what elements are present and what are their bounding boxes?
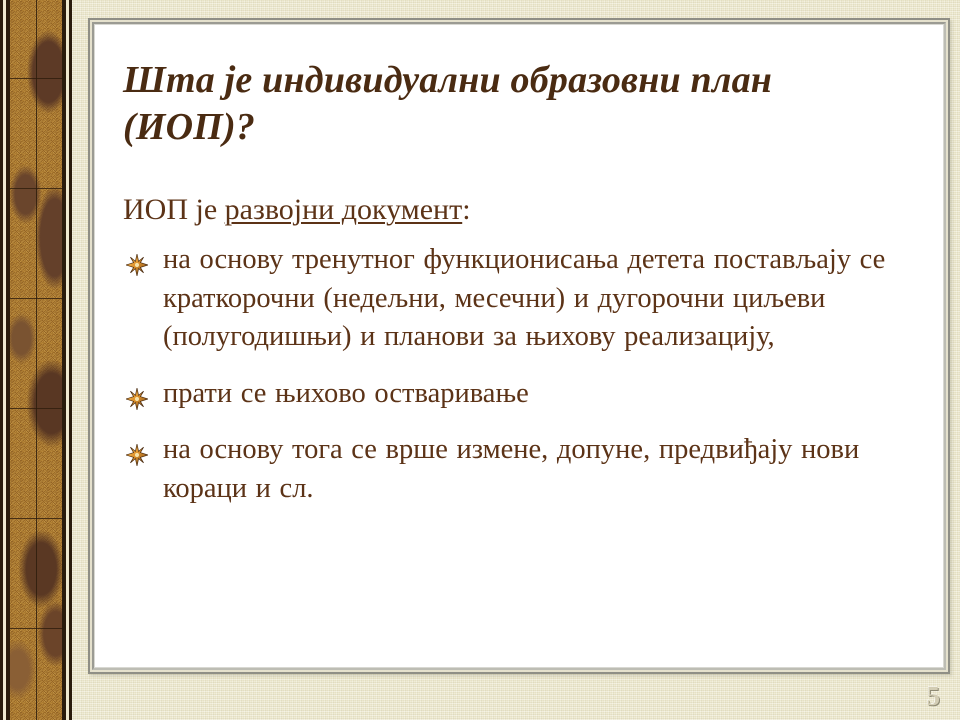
list-item-text: на основу тренутног функционисања детета… — [163, 244, 885, 352]
strip-grid-line-horizontal — [10, 408, 62, 409]
strip-edge-line-left-inner — [6, 0, 10, 720]
star-burst-bullet-icon — [126, 249, 148, 271]
content-frame-inner: Шта је индивидуални образовни план (ИОП)… — [94, 24, 944, 668]
strip-grid-line-horizontal — [10, 188, 62, 189]
star-burst-bullet-icon — [126, 383, 148, 405]
strip-grid-line-horizontal — [10, 518, 62, 519]
body-block: ИОП је развојни документ: — [123, 192, 923, 509]
list-item-text: на основу тога се врше измене, допуне, п… — [163, 434, 859, 504]
lead-emphasis: развојни документ — [225, 193, 463, 226]
strip-edge-line-right-outer — [69, 0, 72, 720]
lead-paragraph: ИОП је развојни документ: — [123, 192, 923, 228]
strip-grid-line-horizontal — [10, 298, 62, 299]
decorative-left-border-strip — [0, 0, 72, 720]
list-item: на основу тога се врше измене, допуне, п… — [123, 431, 923, 508]
strip-grid-line-vertical — [36, 0, 37, 720]
list-item-text: прати се њихово остваривање — [163, 378, 529, 409]
strip-grid-line-horizontal — [10, 78, 62, 79]
page-number: 5 — [927, 681, 941, 712]
title-block: Шта је индивидуални образовни план (ИОП)… — [123, 57, 913, 150]
list-item: на основу тренутног функционисања детета… — [123, 241, 923, 357]
star-burst-bullet-icon — [126, 439, 148, 461]
strip-grid-line-horizontal — [10, 628, 62, 629]
list-item: прати се њихово остваривање — [123, 375, 923, 414]
content-frame: Шта је индивидуални образовни план (ИОП)… — [92, 22, 946, 670]
bullet-list: на основу тренутног функционисања детета… — [123, 241, 923, 509]
slide-canvas: Шта је индивидуални образовни план (ИОП)… — [0, 0, 960, 720]
lead-suffix: : — [462, 193, 470, 226]
lead-prefix: ИОП је — [123, 193, 225, 226]
page-title: Шта је индивидуални образовни план (ИОП)… — [123, 57, 913, 150]
